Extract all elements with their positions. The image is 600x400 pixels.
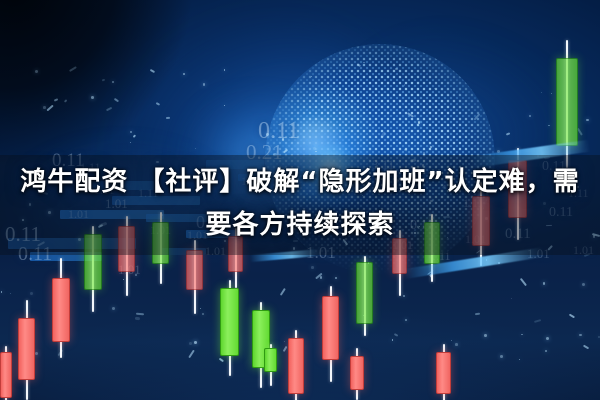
particle-dot: [313, 147, 316, 150]
particle-dot: [311, 76, 312, 77]
candle-body: [18, 318, 35, 380]
particle-dot: [546, 337, 549, 340]
particle-dash: [136, 312, 144, 315]
banner-image: 0.110.110.111.011.011.011.011.011.111.11…: [0, 0, 600, 400]
particle-dot: [183, 73, 185, 75]
candle-body: [0, 352, 12, 398]
candle-body: [350, 356, 364, 390]
candle-body: [556, 58, 578, 146]
particle-dot: [282, 138, 284, 140]
particle-dot: [551, 93, 552, 94]
candle-body: [52, 278, 70, 342]
candle-body: [322, 296, 339, 360]
candle-body: [264, 348, 277, 372]
particle-dash: [135, 317, 140, 320]
particle-dot: [311, 266, 314, 269]
particle-dot: [43, 106, 46, 109]
particle-dot: [418, 121, 421, 124]
candle-body: [288, 338, 304, 394]
particle-dot: [579, 334, 581, 336]
candle-body: [186, 250, 203, 290]
candle-body: [436, 352, 451, 394]
particle-dot: [315, 151, 317, 153]
particle-dot: [455, 343, 458, 346]
headline-line-2: 要各方持续探索: [0, 203, 600, 247]
particle-dot: [35, 352, 38, 355]
headline-line-1: 鸿牛配资 【社评】破解“隐形加班”认定难，需: [0, 160, 600, 204]
particle-dot: [135, 274, 137, 276]
particle-dot: [500, 355, 503, 358]
